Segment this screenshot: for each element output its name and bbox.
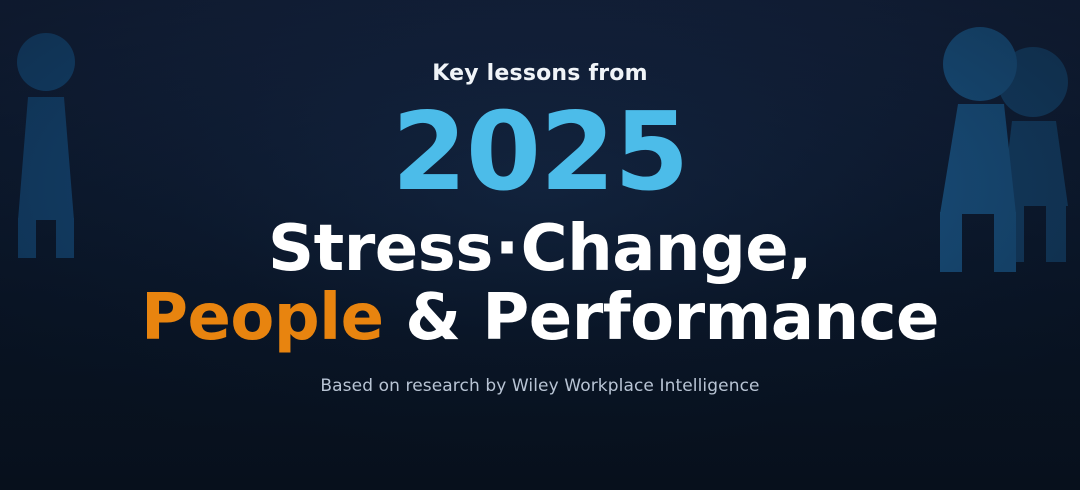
hero-content: Key lessons from 2025 Stress·Change, Peo… bbox=[0, 0, 1080, 490]
headline-line-2: People & Performance bbox=[141, 286, 939, 351]
slide-hero: Key lessons from 2025 Stress·Change, Peo… bbox=[0, 0, 1080, 490]
eyebrow-text: Key lessons from bbox=[432, 63, 647, 85]
headline-word-people: People bbox=[141, 281, 383, 355]
headline: Stress·Change, People & Performance bbox=[141, 217, 939, 352]
headline-word-change: Change, bbox=[521, 212, 812, 286]
headline-line-1: Stress·Change, bbox=[141, 217, 939, 282]
headline-separator-dot: · bbox=[493, 212, 521, 286]
year-heading: 2025 bbox=[392, 99, 689, 207]
headline-word-performance: & Performance bbox=[405, 281, 939, 355]
headline-word-stress: Stress bbox=[268, 212, 493, 286]
byline-text: Based on research by Wiley Workplace Int… bbox=[320, 378, 759, 395]
